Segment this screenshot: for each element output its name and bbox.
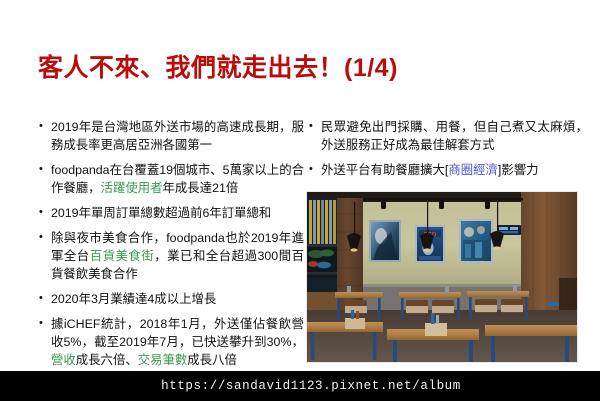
bullet-right-2: 外送平台有助餐廳擴大[商圈經濟]影響力 (306, 161, 588, 179)
bullet-left-6: 據iCHEF統計，2018年1月，外送僅佔餐飲營收5%，截至2019年7月，已快… (36, 315, 304, 369)
presentation-slide: 客人不來、我們就走出去！(1/4) 2019年是台灣地區外送市場的高速成長期，服… (0, 0, 600, 371)
bullet-text: 成長八倍 (187, 353, 237, 367)
bullet-left-4: 除與夜市美食合作，foodpanda也於2019年進軍全台百貨美食街，業已和全台… (36, 229, 304, 283)
bullet-text: ]影響力 (498, 163, 539, 177)
bullet-text: 據iCHEF統計，2018年1月，外送僅佔餐飲營收5%，截至2019年7月，已快… (51, 317, 304, 349)
bullet-list-right: 民眾避免出門採購、用餐，但自己煮又太麻煩，外送服務正好成為最佳解套方式外送平台有… (306, 118, 588, 186)
watermark-url: https://sandavid1123.pixnet.net/album (0, 371, 600, 401)
page-title: 客人不來、我們就走出去！(1/4) (38, 52, 398, 84)
bullet-right-1: 民眾避免出門採購、用餐，但自己煮又太麻煩，外送服務正好成為最佳解套方式 (306, 118, 588, 154)
bullet-text: 民眾避免出門採購、用餐，但自己煮又太麻煩，外送服務正好成為最佳解套方式 (321, 120, 588, 152)
bullet-text: 成長六倍、 (76, 353, 138, 367)
highlight-green-text: 百貨美食街 (90, 249, 155, 263)
restaurant-interior-photo: RED (307, 192, 577, 362)
bullet-left-1: 2019年是台灣地區外送市場的高速成長期，服務成長率更高居亞洲各國第一 (36, 118, 304, 154)
bullet-list-left: 2019年是台灣地區外送市場的高速成長期，服務成長率更高居亞洲各國第一foodp… (36, 118, 304, 376)
link-text[interactable]: 商圈經濟 (448, 163, 498, 177)
watermark-bar: https://sandavid1123.pixnet.net/album (0, 371, 600, 401)
bullet-text: 2020年3月業績達4成以上增長 (51, 292, 216, 306)
bullet-text: 年成長達21倍 (163, 181, 239, 195)
highlight-green-text: 活躍使用者 (101, 181, 163, 195)
bullet-text: 外送平台有助餐廳擴大[ (321, 163, 448, 177)
highlight-green-text: 營收 (51, 353, 76, 367)
bullet-text: 2019年是台灣地區外送市場的高速成長期，服務成長率更高居亞洲各國第一 (51, 120, 304, 152)
highlight-green-text: 交易筆數 (138, 353, 188, 367)
bullet-left-2: foodpanda在台覆蓋19個城市、5萬家以上的合作餐廳，活躍使用者年成長達2… (36, 161, 304, 197)
bullet-left-5: 2020年3月業績達4成以上增長 (36, 290, 304, 308)
bullet-text: 2019年單周訂單總數超過前6年訂單總和 (51, 206, 271, 220)
bullet-left-3: 2019年單周訂單總數超過前6年訂單總和 (36, 204, 304, 222)
